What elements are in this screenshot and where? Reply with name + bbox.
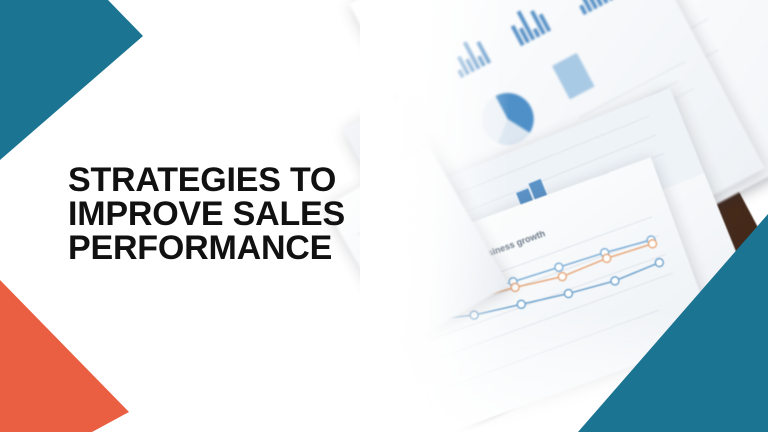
slide-canvas: Business Report Business growth	[0, 0, 768, 432]
page-title: STRATEGIES TO IMPROVE SALES PERFORMANCE	[68, 163, 398, 265]
title-line-1: STRATEGIES TO	[68, 163, 398, 197]
bar-chart-second-group	[503, 0, 551, 46]
bar-chart-third-group	[568, 0, 614, 15]
title-line-3: PERFORMANCE	[68, 231, 398, 265]
title-line-2: IMPROVE SALES	[68, 197, 398, 231]
chart-legend-swatch	[552, 53, 595, 100]
bar-chart-top-sheet	[445, 32, 491, 78]
